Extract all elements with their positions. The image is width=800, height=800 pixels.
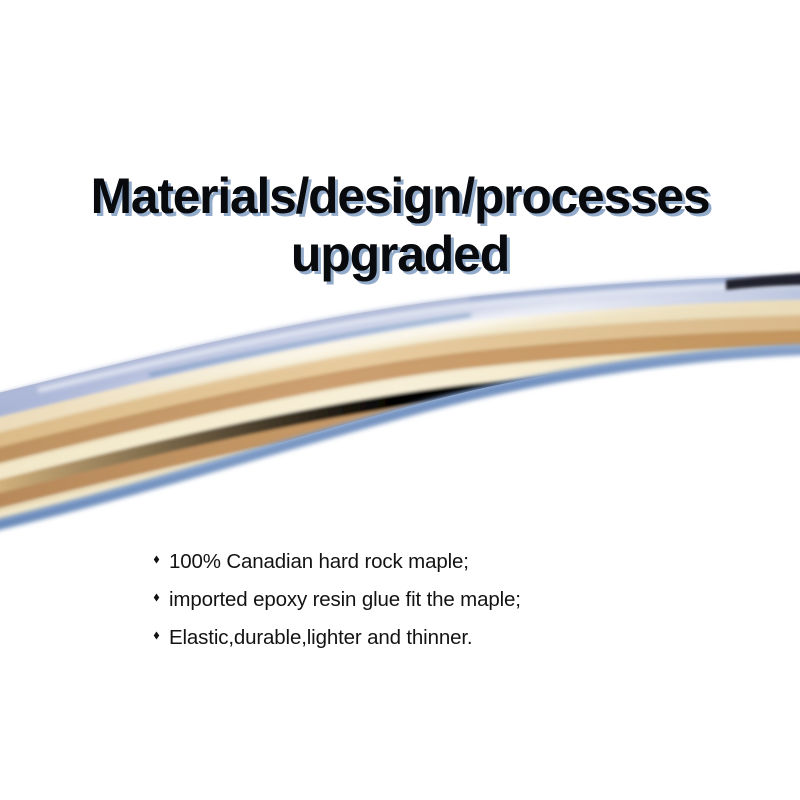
page-title-line-1: Materials/design/processes: [2, 167, 798, 225]
diamond-bullet-icon: [152, 555, 161, 564]
list-item-label: 100% Canadian hard rock maple;: [169, 543, 469, 581]
product-feature-banner: Materials/design/processes upgraded: [0, 0, 800, 800]
diamond-bullet-icon: [152, 631, 161, 640]
list-item: Elastic,durable,lighter and thinner.: [152, 619, 752, 657]
list-item: imported epoxy resin glue fit the maple;: [152, 581, 752, 619]
list-item: 100% Canadian hard rock maple;: [152, 543, 752, 581]
diamond-bullet-icon: [152, 593, 161, 602]
product-photo-blade-edge: [0, 255, 800, 555]
list-item-label: Elastic,durable,lighter and thinner.: [169, 619, 472, 657]
list-item-label: imported epoxy resin glue fit the maple;: [169, 581, 521, 619]
feature-list: 100% Canadian hard rock maple; imported …: [152, 543, 752, 657]
